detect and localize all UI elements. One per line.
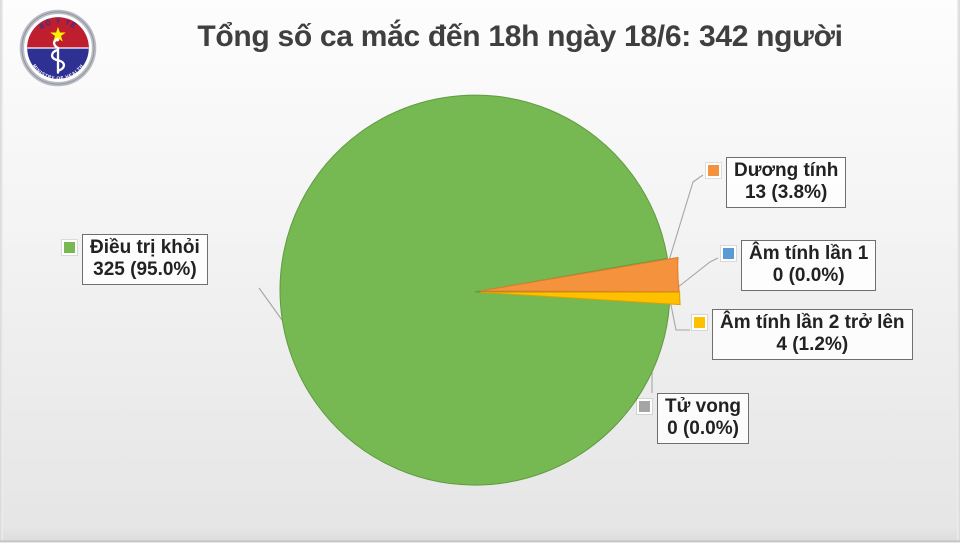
swatch-positive [706,163,721,178]
callout-positive-value: 13 (3.8%) [734,182,838,204]
callout-neg1-box: Âm tính lần 1 0 (0.0%) [741,240,876,291]
callout-positive[interactable]: Dương tính 13 (3.8%) [706,157,846,208]
swatch-deaths [637,399,652,414]
callout-neg1-title: Âm tính lần 1 [749,243,868,265]
callout-deaths[interactable]: Tử vong 0 (0.0%) [637,393,749,444]
callout-neg2plus-box: Âm tính lần 2 trở lên 4 (1.2%) [712,309,913,360]
callout-deaths-box: Tử vong 0 (0.0%) [657,393,749,444]
callout-positive-title: Dương tính [734,160,838,182]
callout-recovered-value: 325 (95.0%) [90,259,200,281]
slide-canvas: BỘ Y TẾ MINISTRY OF HEALTH Tổng số ca mắ… [0,0,960,543]
callout-recovered-box: Điều trị khỏi 325 (95.0%) [82,234,208,285]
callout-neg1-value: 0 (0.0%) [749,265,868,287]
callout-recovered[interactable]: Điều trị khỏi 325 (95.0%) [62,234,208,285]
swatch-neg2plus [692,315,707,330]
callout-positive-box: Dương tính 13 (3.8%) [726,157,846,208]
swatch-neg1 [721,246,736,261]
callout-neg2plus-title: Âm tính lần 2 trở lên [720,312,905,334]
callout-deaths-value: 0 (0.0%) [665,418,741,440]
callout-neg1[interactable]: Âm tính lần 1 0 (0.0%) [721,240,876,291]
callout-neg2plus[interactable]: Âm tính lần 2 trở lên 4 (1.2%) [692,309,913,360]
callout-neg2plus-value: 4 (1.2%) [720,334,905,356]
callout-recovered-title: Điều trị khỏi [90,237,200,259]
swatch-recovered [62,240,77,255]
callout-deaths-title: Tử vong [665,396,741,418]
